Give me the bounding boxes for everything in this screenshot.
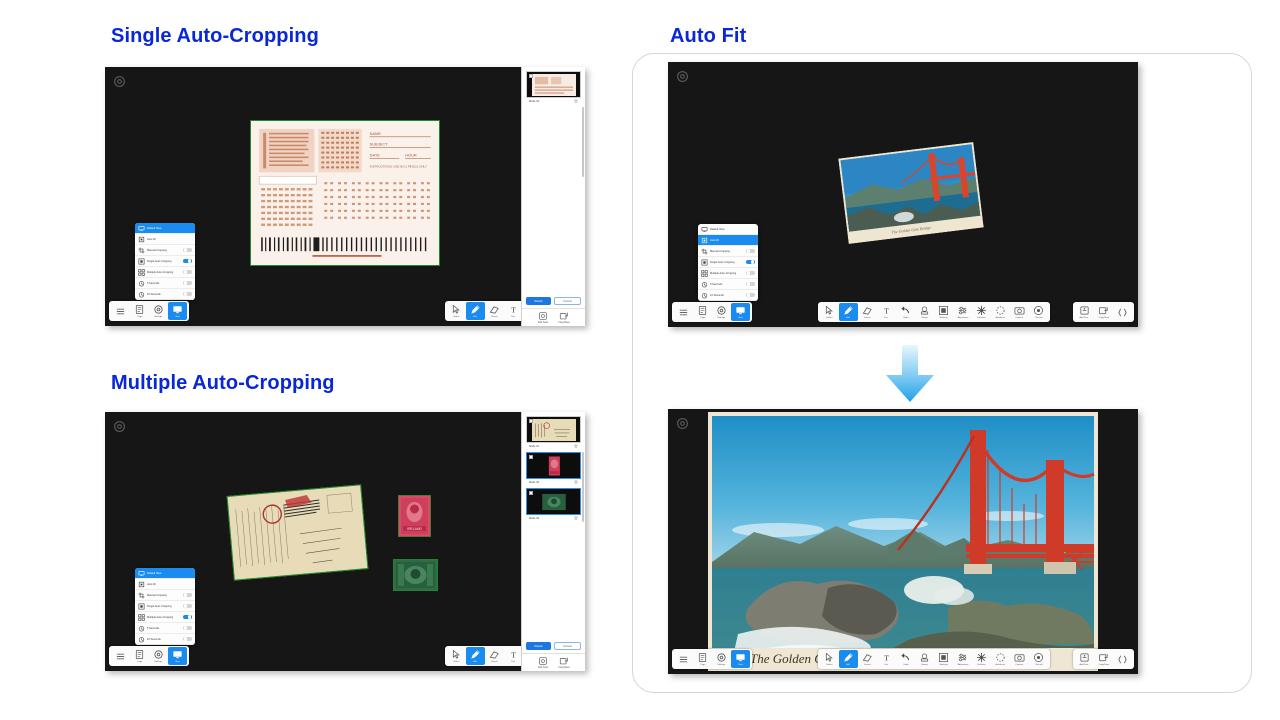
tool-label: Select bbox=[827, 316, 833, 319]
svg-text:INSTRUCTIONS: USE NO.2 PENCIL: INSTRUCTIONS: USE NO.2 PENCIL ONLY bbox=[370, 164, 427, 168]
tool-select[interactable]: Select bbox=[820, 650, 839, 668]
view-settings-panel[interactable]: Default ViewAuto FitManual CroppingSingl… bbox=[698, 224, 758, 301]
record-icon bbox=[1033, 305, 1044, 316]
toggle--seconds[interactable] bbox=[746, 282, 755, 287]
corner-tool-page[interactable]: Page bbox=[130, 647, 149, 665]
corner-tool-view[interactable]: View bbox=[168, 302, 187, 320]
tool-label: Text bbox=[885, 663, 889, 666]
toggle-manual-cropping[interactable] bbox=[746, 249, 755, 254]
pencil-icon bbox=[470, 649, 481, 660]
expand-icon bbox=[1117, 307, 1128, 318]
tool-eraser[interactable]: Eraser bbox=[858, 650, 877, 668]
tool-edit[interactable]: Edit bbox=[466, 302, 485, 320]
text-icon: T bbox=[881, 305, 892, 316]
corner-tool-page[interactable]: Page bbox=[693, 650, 712, 668]
settings-item-label: 5 Seconds bbox=[147, 282, 181, 285]
thumbnail-caption-row: Mode 02 bbox=[526, 479, 581, 485]
svg-text:T: T bbox=[884, 654, 889, 663]
gear-icon bbox=[153, 649, 164, 660]
scanned-red-stamp[interactable]: IRELAND bbox=[398, 495, 431, 537]
settings-item-label: Default View bbox=[710, 228, 755, 231]
stamp-icon bbox=[919, 305, 930, 316]
tool-capture[interactable]: Capture bbox=[1010, 303, 1029, 321]
svg-text:NAME: NAME bbox=[370, 131, 382, 136]
settings-item-default-view[interactable]: Default View bbox=[135, 568, 195, 579]
toggle-single-auto-cropping[interactable] bbox=[183, 604, 192, 609]
settings-item-multiple-auto-cropping[interactable]: Multiple Auto-Cropping bbox=[135, 612, 195, 623]
scan-results-drawer[interactable]: Mode 01 Result Cancel Add ScanCopy/Save bbox=[521, 67, 585, 326]
edit-toolbar[interactable]: SelectEditEraserTTextUndoStampMaskingAdj… bbox=[818, 649, 1050, 669]
monitor-icon bbox=[701, 226, 708, 233]
timer-icon bbox=[138, 280, 145, 287]
toggle--seconds[interactable] bbox=[183, 292, 192, 297]
thumbnail-label: Mode 02 bbox=[529, 481, 539, 484]
thumbnail-preview[interactable] bbox=[526, 416, 581, 443]
view-settings-panel[interactable]: Default ViewAuto FitManual CroppingSingl… bbox=[135, 568, 195, 645]
tool-label: Settings bbox=[718, 316, 726, 319]
tool-label: Masking bbox=[939, 663, 947, 666]
thumbnail-preview[interactable] bbox=[526, 71, 581, 98]
scanner-window-auto-fit-after: The Golden Gate Bridge, San Francisco Pa… bbox=[668, 409, 1138, 674]
undo-icon bbox=[900, 305, 911, 316]
view-icon bbox=[735, 305, 746, 316]
corner-tool-copy-save[interactable]: Copy/Save bbox=[1094, 650, 1113, 668]
settings-item-label: 5 Seconds bbox=[147, 627, 181, 630]
frame-icon bbox=[938, 652, 949, 663]
hamburger-icon[interactable] bbox=[111, 647, 130, 665]
scanned-golden-gate-postcard[interactable]: The Golden Gate Bridge bbox=[838, 142, 983, 244]
settings-gear-icon[interactable] bbox=[113, 75, 126, 88]
drawer-action-buttons[interactable]: Result Cancel bbox=[522, 294, 585, 308]
toggle-multiple-auto-cropping[interactable] bbox=[746, 271, 755, 276]
thumbnail-item[interactable]: Mode 01 bbox=[526, 416, 581, 449]
settings-item--seconds[interactable]: 5 Seconds bbox=[135, 623, 195, 634]
settings-item-label: Manual Cropping bbox=[147, 594, 181, 597]
page-icon bbox=[134, 649, 145, 660]
text-icon: T bbox=[508, 304, 519, 315]
drawer-scrollbar[interactable] bbox=[582, 452, 584, 522]
tool-masking[interactable]: Masking bbox=[934, 303, 953, 321]
thumbnail-green-stamp-icon bbox=[532, 491, 576, 513]
scanned-handwritten-postcard[interactable] bbox=[227, 484, 369, 580]
single-crop-icon bbox=[138, 258, 145, 265]
settings-item--seconds[interactable]: 10 Seconds bbox=[135, 634, 195, 645]
view-settings-panel[interactable]: Default ViewAuto FitManual CroppingSingl… bbox=[135, 223, 195, 300]
tool-label: Adjustment bbox=[957, 316, 968, 319]
tool-text[interactable]: TText bbox=[877, 303, 896, 321]
timer-icon bbox=[701, 281, 708, 288]
eraser-icon bbox=[489, 304, 500, 315]
answer-sheet-artwork: NAME SUBJECT DATEHOUR INSTRUCTIONS: USE … bbox=[251, 121, 439, 265]
settings-item-label: Single Auto-Cropping bbox=[147, 260, 181, 263]
tool-label: Eraser bbox=[491, 315, 497, 318]
svg-text:IRELAND: IRELAND bbox=[407, 527, 422, 531]
corner-tool-settings[interactable]: Settings bbox=[149, 647, 168, 665]
tool-edit[interactable]: Edit bbox=[839, 650, 858, 668]
result-button[interactable]: Result bbox=[526, 642, 551, 650]
scan-results-drawer[interactable]: Mode 01Mode 02Mode 03 Result Cancel Add … bbox=[521, 412, 585, 671]
thumbnail-caption-row: Mode 01 bbox=[526, 443, 581, 449]
delete-icon[interactable] bbox=[574, 444, 578, 448]
right-corner-toolbar[interactable]: Add ScanCopy/Save bbox=[1073, 649, 1134, 669]
settings-item-label: Auto Fit bbox=[147, 583, 192, 586]
pencil-icon bbox=[843, 652, 854, 663]
corner-tool-settings[interactable]: Settings bbox=[712, 303, 731, 321]
expand-icon[interactable] bbox=[1113, 650, 1132, 668]
section-title-auto-fit: Auto Fit bbox=[670, 25, 746, 48]
tool-autofocus[interactable]: Autofocus bbox=[991, 650, 1010, 668]
settings-item-label: 10 Seconds bbox=[710, 294, 744, 297]
tool-enhance[interactable]: Enhance bbox=[972, 650, 991, 668]
settings-item-single-auto-cropping[interactable]: Single Auto-Cropping bbox=[698, 257, 758, 268]
thumbnail-checkbox[interactable] bbox=[529, 74, 533, 78]
delete-icon[interactable] bbox=[574, 516, 578, 520]
manual-crop-icon bbox=[701, 248, 708, 255]
settings-item-multiple-auto-cropping[interactable]: Multiple Auto-Cropping bbox=[135, 267, 195, 278]
toggle--seconds[interactable] bbox=[746, 293, 755, 298]
tool-undo[interactable]: Undo bbox=[896, 303, 915, 321]
tool-label: Page bbox=[700, 316, 705, 319]
tool-label: Text bbox=[885, 316, 889, 319]
toggle-manual-cropping[interactable] bbox=[183, 593, 192, 598]
svg-text:T: T bbox=[884, 307, 889, 316]
expand-icon bbox=[1117, 654, 1128, 665]
rescan-icon bbox=[538, 311, 548, 321]
settings-item-single-auto-cropping[interactable]: Single Auto-Cropping bbox=[135, 601, 195, 612]
adjust-icon bbox=[957, 652, 968, 663]
tool-label: Enhance bbox=[977, 316, 986, 319]
camera-icon bbox=[1014, 652, 1025, 663]
settings-item--seconds[interactable]: 5 Seconds bbox=[698, 279, 758, 290]
autofit-icon bbox=[138, 581, 145, 588]
select-icon bbox=[451, 649, 462, 660]
toggle-manual-cropping[interactable] bbox=[183, 248, 192, 253]
left-corner-toolbar[interactable]: PageSettingsView bbox=[109, 646, 189, 666]
toggle--seconds[interactable] bbox=[183, 637, 192, 642]
svg-text:SUBJECT: SUBJECT bbox=[370, 142, 389, 147]
tool-adjustment[interactable]: Adjustment bbox=[953, 303, 972, 321]
tool-record[interactable]: Record bbox=[1029, 650, 1048, 668]
stamp-icon bbox=[919, 652, 930, 663]
tool-text[interactable]: TText bbox=[877, 650, 896, 668]
tool-edit[interactable]: Edit bbox=[466, 647, 485, 665]
multi-crop-icon bbox=[701, 270, 708, 277]
gear-icon bbox=[716, 305, 727, 316]
page-icon bbox=[697, 652, 708, 663]
thumbnail-document-icon bbox=[532, 74, 576, 96]
hamburger-icon bbox=[115, 651, 126, 662]
scan-icon bbox=[1079, 652, 1090, 663]
gear-icon bbox=[153, 304, 164, 315]
corner-tool-add-scan[interactable]: Add Scan bbox=[1075, 650, 1094, 668]
tool-label: Settings bbox=[155, 660, 163, 663]
save-icon bbox=[559, 656, 569, 666]
view-icon bbox=[735, 652, 746, 663]
gear-icon bbox=[716, 652, 727, 663]
postcard-artwork bbox=[227, 484, 369, 580]
settings-item-default-view[interactable]: Default View bbox=[135, 223, 195, 234]
cancel-button[interactable]: Cancel bbox=[554, 642, 581, 650]
select-icon bbox=[824, 305, 835, 316]
scanner-window-single-auto-cropping: NAME SUBJECT DATEHOUR INSTRUCTIONS: USE … bbox=[105, 67, 585, 326]
scanner-window-auto-fit-before: The Golden Gate Bridge Default ViewAuto … bbox=[668, 62, 1138, 327]
hamburger-icon bbox=[678, 654, 689, 665]
toggle--seconds[interactable] bbox=[183, 626, 192, 631]
tool-label: Copy/Save bbox=[558, 321, 570, 324]
eraser-icon bbox=[489, 649, 500, 660]
right-corner-toolbar[interactable]: Add ScanCopy/Save bbox=[1073, 302, 1134, 322]
sparkle-icon bbox=[976, 652, 987, 663]
timer-icon bbox=[138, 636, 145, 643]
edit-toolbar[interactable]: SelectEditEraserTTextUndoStampMaskingAdj… bbox=[818, 302, 1050, 322]
corner-tool-settings[interactable]: Settings bbox=[149, 302, 168, 320]
settings-item-auto-fit[interactable]: Auto Fit bbox=[135, 234, 195, 245]
hamburger-icon bbox=[115, 306, 126, 317]
tool-adjustment[interactable]: Adjustment bbox=[953, 650, 972, 668]
settings-item-auto-fit[interactable]: Auto Fit bbox=[698, 235, 758, 246]
svg-text:T: T bbox=[511, 306, 516, 315]
delete-icon[interactable] bbox=[574, 480, 578, 484]
settings-item-label: Default View bbox=[147, 572, 192, 575]
select-icon bbox=[451, 304, 462, 315]
left-corner-toolbar[interactable]: PageSettingsView bbox=[672, 302, 752, 322]
thumbnail-list[interactable]: Mode 01 bbox=[522, 67, 585, 294]
tool-label: Copy/Save bbox=[558, 666, 570, 669]
manual-crop-icon bbox=[138, 247, 145, 254]
corner-tool-add-scan[interactable]: Add Scan bbox=[1075, 303, 1094, 321]
red-stamp-artwork: IRELAND bbox=[398, 495, 431, 537]
tool-select[interactable]: Select bbox=[447, 647, 466, 665]
corner-tool-view[interactable]: View bbox=[731, 650, 750, 668]
tool-select[interactable]: Select bbox=[447, 302, 466, 320]
section-title-single-auto-cropping: Single Auto-Cropping bbox=[111, 25, 319, 48]
scanned-green-stamp[interactable] bbox=[393, 559, 438, 591]
tool-enhance[interactable]: Enhance bbox=[972, 303, 991, 321]
tool-label: Stamp bbox=[921, 316, 927, 319]
result-button[interactable]: Result bbox=[526, 297, 551, 305]
settings-item-label: Manual Cropping bbox=[710, 250, 744, 253]
settings-item-auto-fit[interactable]: Auto Fit bbox=[135, 579, 195, 590]
tool-label: Eraser bbox=[864, 663, 870, 666]
page-icon bbox=[697, 305, 708, 316]
drawer-footer-tools[interactable]: Add ScanCopy/Save bbox=[522, 653, 585, 671]
single-crop-icon bbox=[138, 603, 145, 610]
tool-label: Select bbox=[827, 663, 833, 666]
autofit-icon bbox=[701, 237, 708, 244]
timer-icon bbox=[701, 292, 708, 299]
tool-label: Add Scan bbox=[538, 666, 548, 669]
settings-item--seconds[interactable]: 10 Seconds bbox=[135, 289, 195, 300]
thumbnail-item[interactable]: Mode 02 bbox=[526, 452, 581, 485]
tool-label: Eraser bbox=[864, 316, 870, 319]
settings-gear-icon[interactable] bbox=[676, 417, 689, 430]
settings-item-label: Auto Fit bbox=[147, 238, 192, 241]
toggle-multiple-auto-cropping[interactable] bbox=[183, 270, 192, 275]
tool-stamp[interactable]: Stamp bbox=[915, 650, 934, 668]
drawer-tool-copy-save[interactable]: Copy/Save bbox=[556, 656, 573, 669]
settings-item-default-view[interactable]: Default View bbox=[698, 224, 758, 235]
settings-item-multiple-auto-cropping[interactable]: Multiple Auto-Cropping bbox=[698, 268, 758, 279]
tool-label: Masking bbox=[939, 316, 947, 319]
drawer-footer-tools[interactable]: Add ScanCopy/Save bbox=[522, 308, 585, 326]
eraser-icon bbox=[862, 305, 873, 316]
tool-label: Page bbox=[700, 663, 705, 666]
tool-label: Enhance bbox=[977, 663, 986, 666]
corner-tool-settings[interactable]: Settings bbox=[712, 650, 731, 668]
toggle-single-auto-cropping[interactable] bbox=[183, 259, 192, 264]
rescan-icon bbox=[538, 656, 548, 666]
section-title-multiple-auto-cropping: Multiple Auto-Cropping bbox=[111, 372, 335, 395]
corner-tool-view[interactable]: View bbox=[731, 303, 750, 321]
toggle-multiple-auto-cropping[interactable] bbox=[183, 615, 192, 620]
select-icon bbox=[824, 652, 835, 663]
tool-label: View bbox=[175, 660, 180, 663]
thumbnail-caption-row: Mode 01 bbox=[526, 98, 581, 104]
settings-item-label: 5 Seconds bbox=[710, 283, 744, 286]
expand-icon[interactable] bbox=[1113, 303, 1132, 321]
settings-item--seconds[interactable]: 10 Seconds bbox=[698, 290, 758, 301]
hamburger-icon[interactable] bbox=[674, 650, 693, 668]
corner-tool-page[interactable]: Page bbox=[130, 302, 149, 320]
hamburger-icon bbox=[678, 307, 689, 318]
tool-edit[interactable]: Edit bbox=[839, 303, 858, 321]
svg-text:HOUR: HOUR bbox=[405, 153, 417, 158]
camera-icon bbox=[1014, 305, 1025, 316]
monitor-icon bbox=[138, 570, 145, 577]
timer-icon bbox=[138, 625, 145, 632]
thumbnail-label: Mode 03 bbox=[529, 517, 539, 520]
tool-label: Edit bbox=[474, 660, 478, 663]
tool-stamp[interactable]: Stamp bbox=[915, 303, 934, 321]
record-icon bbox=[1033, 652, 1044, 663]
thumbnail-preview[interactable] bbox=[526, 452, 581, 479]
settings-item-manual-cropping[interactable]: Manual Cropping bbox=[135, 590, 195, 601]
svg-text:DATE: DATE bbox=[370, 153, 381, 158]
hamburger-icon[interactable] bbox=[111, 302, 130, 320]
text-icon: T bbox=[508, 649, 519, 660]
tool-label: Select bbox=[454, 315, 460, 318]
settings-item-label: Manual Cropping bbox=[147, 249, 181, 252]
settings-item--seconds[interactable]: 5 Seconds bbox=[135, 278, 195, 289]
settings-item-label: Multiple Auto-Cropping bbox=[147, 616, 181, 619]
settings-gear-icon[interactable] bbox=[113, 420, 126, 433]
thumbnail-item[interactable]: Mode 01 bbox=[526, 71, 581, 104]
thumbnail-preview[interactable] bbox=[526, 488, 581, 515]
left-corner-toolbar[interactable]: PageSettingsView bbox=[109, 301, 189, 321]
thumbnail-red-stamp-icon bbox=[532, 455, 576, 477]
single-crop-icon bbox=[701, 259, 708, 266]
hamburger-icon[interactable] bbox=[674, 303, 693, 321]
drawer-tool-copy-save[interactable]: Copy/Save bbox=[556, 311, 573, 324]
down-arrow-icon bbox=[880, 345, 940, 403]
tool-label: Capture bbox=[1016, 316, 1024, 319]
view-icon bbox=[172, 304, 183, 315]
tool-eraser[interactable]: Eraser bbox=[485, 302, 504, 320]
thumbnail-label: Mode 01 bbox=[529, 445, 539, 448]
settings-item-manual-cropping[interactable]: Manual Cropping bbox=[135, 245, 195, 256]
toggle-single-auto-cropping[interactable] bbox=[746, 260, 755, 265]
tool-label: Settings bbox=[155, 315, 163, 318]
tool-autofocus[interactable]: Autofocus bbox=[991, 303, 1010, 321]
tool-label: Text bbox=[512, 315, 516, 318]
scan-icon bbox=[1079, 305, 1090, 316]
tool-label: Edit bbox=[847, 316, 851, 319]
multi-crop-icon bbox=[138, 269, 145, 276]
tool-eraser[interactable]: Eraser bbox=[858, 303, 877, 321]
thumbnail-caption-row: Mode 03 bbox=[526, 515, 581, 521]
tool-masking[interactable]: Masking bbox=[934, 650, 953, 668]
settings-item-label: 10 Seconds bbox=[147, 638, 181, 641]
toggle--seconds[interactable] bbox=[183, 281, 192, 286]
export-icon bbox=[1098, 652, 1109, 663]
corner-tool-copy-save[interactable]: Copy/Save bbox=[1094, 303, 1113, 321]
green-stamp-artwork bbox=[393, 559, 438, 591]
tool-label: Page bbox=[137, 660, 142, 663]
left-corner-toolbar[interactable]: PageSettingsView bbox=[672, 649, 752, 669]
tool-label: Adjustment bbox=[957, 663, 968, 666]
corner-tool-page[interactable]: Page bbox=[693, 303, 712, 321]
settings-item-single-auto-cropping[interactable]: Single Auto-Cropping bbox=[135, 256, 195, 267]
settings-item-label: Single Auto-Cropping bbox=[147, 605, 181, 608]
tool-label: Add Scan bbox=[538, 321, 548, 324]
corner-tool-view[interactable]: View bbox=[168, 647, 187, 665]
dashed-icon bbox=[995, 305, 1006, 316]
settings-item-label: Multiple Auto-Cropping bbox=[710, 272, 744, 275]
tool-label: Capture bbox=[1016, 663, 1024, 666]
export-icon bbox=[1098, 305, 1109, 316]
tool-label: Stamp bbox=[921, 663, 927, 666]
settings-item-label: Default View bbox=[147, 227, 192, 230]
tool-label: Record bbox=[1035, 663, 1042, 666]
tool-label: Copy/Save bbox=[1098, 663, 1109, 666]
view-icon bbox=[172, 649, 183, 660]
golden-gate-postcard-small: The Golden Gate Bridge bbox=[838, 142, 983, 244]
undo-icon bbox=[900, 652, 911, 663]
thumbnail-item[interactable]: Mode 03 bbox=[526, 488, 581, 521]
drawer-tool-add-scan[interactable]: Add Scan bbox=[535, 311, 552, 324]
sparkle-icon bbox=[976, 305, 987, 316]
golden-gate-postcard-large: The Golden Gate Bridge, San Francisco bbox=[708, 412, 1098, 671]
tool-label: Undo bbox=[903, 663, 908, 666]
tool-capture[interactable]: Capture bbox=[1010, 650, 1029, 668]
tool-select[interactable]: Select bbox=[820, 303, 839, 321]
thumbnail-checkbox[interactable] bbox=[529, 491, 533, 495]
settings-item-manual-cropping[interactable]: Manual Cropping bbox=[698, 246, 758, 257]
thumbnail-label: Mode 01 bbox=[529, 100, 539, 103]
cancel-button[interactable]: Cancel bbox=[554, 297, 581, 305]
tool-record[interactable]: Record bbox=[1029, 303, 1048, 321]
text-icon: T bbox=[881, 652, 892, 663]
tool-label: Autofocus bbox=[996, 663, 1006, 666]
thumbnail-checkbox[interactable] bbox=[529, 455, 533, 459]
pencil-icon bbox=[843, 305, 854, 316]
thumbnail-checkbox[interactable] bbox=[529, 419, 533, 423]
delete-icon[interactable] bbox=[574, 99, 578, 103]
tool-label: Autofocus bbox=[996, 316, 1006, 319]
settings-item-label: Single Auto-Cropping bbox=[710, 261, 744, 264]
drawer-tool-add-scan[interactable]: Add Scan bbox=[535, 656, 552, 669]
fitted-golden-gate-postcard[interactable]: The Golden Gate Bridge, San Francisco bbox=[708, 412, 1098, 671]
drawer-action-buttons[interactable]: Result Cancel bbox=[522, 639, 585, 653]
tool-eraser[interactable]: Eraser bbox=[485, 647, 504, 665]
frame-icon bbox=[938, 305, 949, 316]
tool-undo[interactable]: Undo bbox=[896, 650, 915, 668]
manual-crop-icon bbox=[138, 592, 145, 599]
thumbnail-list[interactable]: Mode 01Mode 02Mode 03 bbox=[522, 412, 585, 639]
drawer-scrollbar[interactable] bbox=[582, 107, 584, 177]
scanned-document-answer-sheet[interactable]: NAME SUBJECT DATEHOUR INSTRUCTIONS: USE … bbox=[250, 120, 440, 266]
settings-gear-icon[interactable] bbox=[676, 70, 689, 83]
